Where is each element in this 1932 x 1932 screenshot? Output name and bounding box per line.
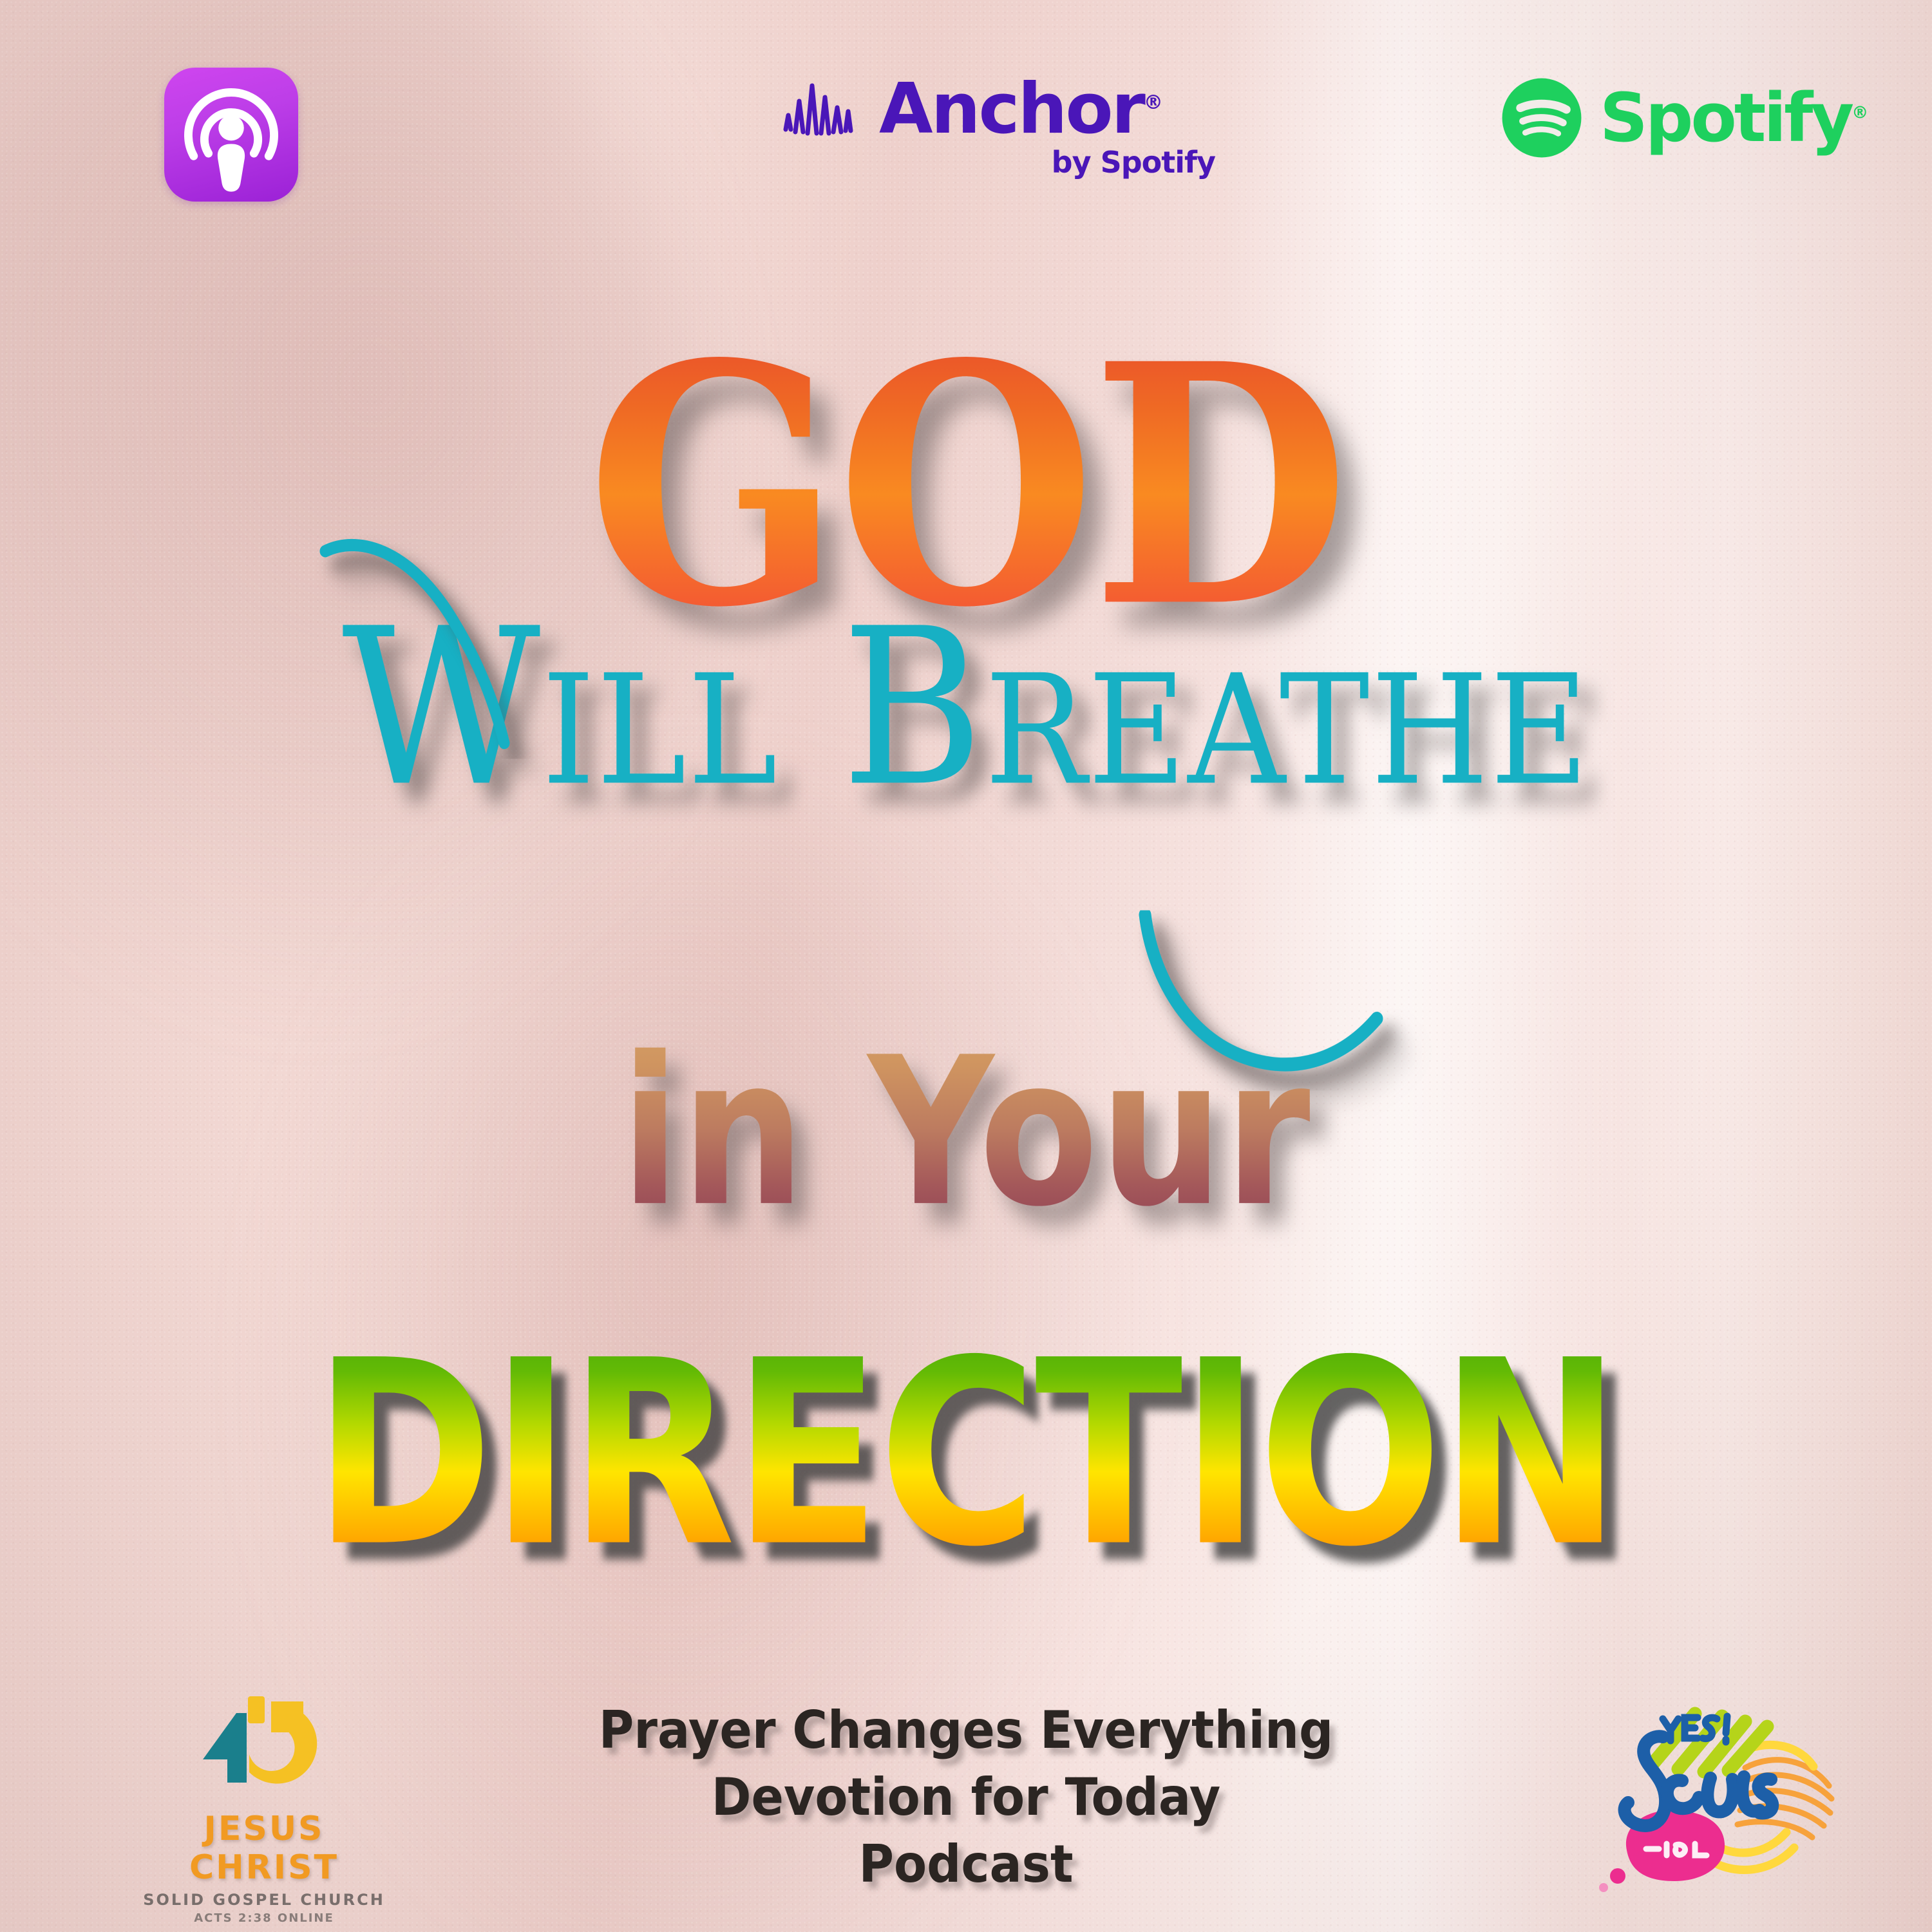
church-logo-name: JESUS CHRIST	[142, 1810, 386, 1887]
title-line-in-your: in Your	[97, 1030, 1835, 1235]
anchor-wordmark: Anchor®	[879, 77, 1163, 141]
title-line-direction: DIRECTION	[0, 1327, 1932, 1582]
spotify-wordmark-text: Spotify	[1600, 79, 1851, 157]
spotify-badge[interactable]: Spotify®	[1501, 76, 1874, 160]
one-way-jesus-mark-icon	[190, 1687, 338, 1803]
background-base	[0, 0, 1932, 1932]
title-line-will-breathe: Will Breathe	[0, 612, 1932, 805]
anchor-waveform-icon	[782, 82, 865, 137]
podcast-cover-artwork: Anchor® by Spotify Spotify® GOD	[0, 0, 1932, 1932]
spotify-registered-mark: ®	[1851, 103, 1868, 122]
church-logo-subtitle-1: SOLID GOSPEL CHURCH	[142, 1891, 386, 1909]
anchor-trademark: ®	[1144, 91, 1163, 114]
church-logo[interactable]: JESUS CHRIST SOLID GOSPEL CHURCH ACTS 2:…	[142, 1687, 386, 1900]
title-line-will-breathe-text: Will Breathe	[342, 582, 1590, 834]
anchor-logo-row: Anchor®	[782, 77, 1220, 141]
anchor-badge[interactable]: Anchor® by Spotify	[782, 77, 1220, 206]
yes-jesus-sticker[interactable]	[1584, 1690, 1842, 1903]
title-line-direction-text: DIRECTION	[314, 1306, 1619, 1603]
anchor-tagline: by Spotify	[782, 145, 1220, 180]
apple-podcasts-icon	[164, 68, 298, 202]
title-line-will-breathe-inner: Will Breathe	[342, 600, 1590, 817]
spotify-icon	[1501, 77, 1583, 159]
spotify-wordmark: Spotify®	[1600, 84, 1868, 151]
yes-jesus-sticker-icon	[1584, 1690, 1842, 1903]
apple-podcasts-badge[interactable]	[164, 68, 298, 202]
apple-podcasts-tile	[164, 68, 298, 202]
title-line-in-your-text: in Your	[621, 1014, 1312, 1252]
church-logo-subtitle-2: ACTS 2:38 ONLINE	[142, 1911, 386, 1925]
anchor-wordmark-text: Anchor	[879, 69, 1144, 149]
